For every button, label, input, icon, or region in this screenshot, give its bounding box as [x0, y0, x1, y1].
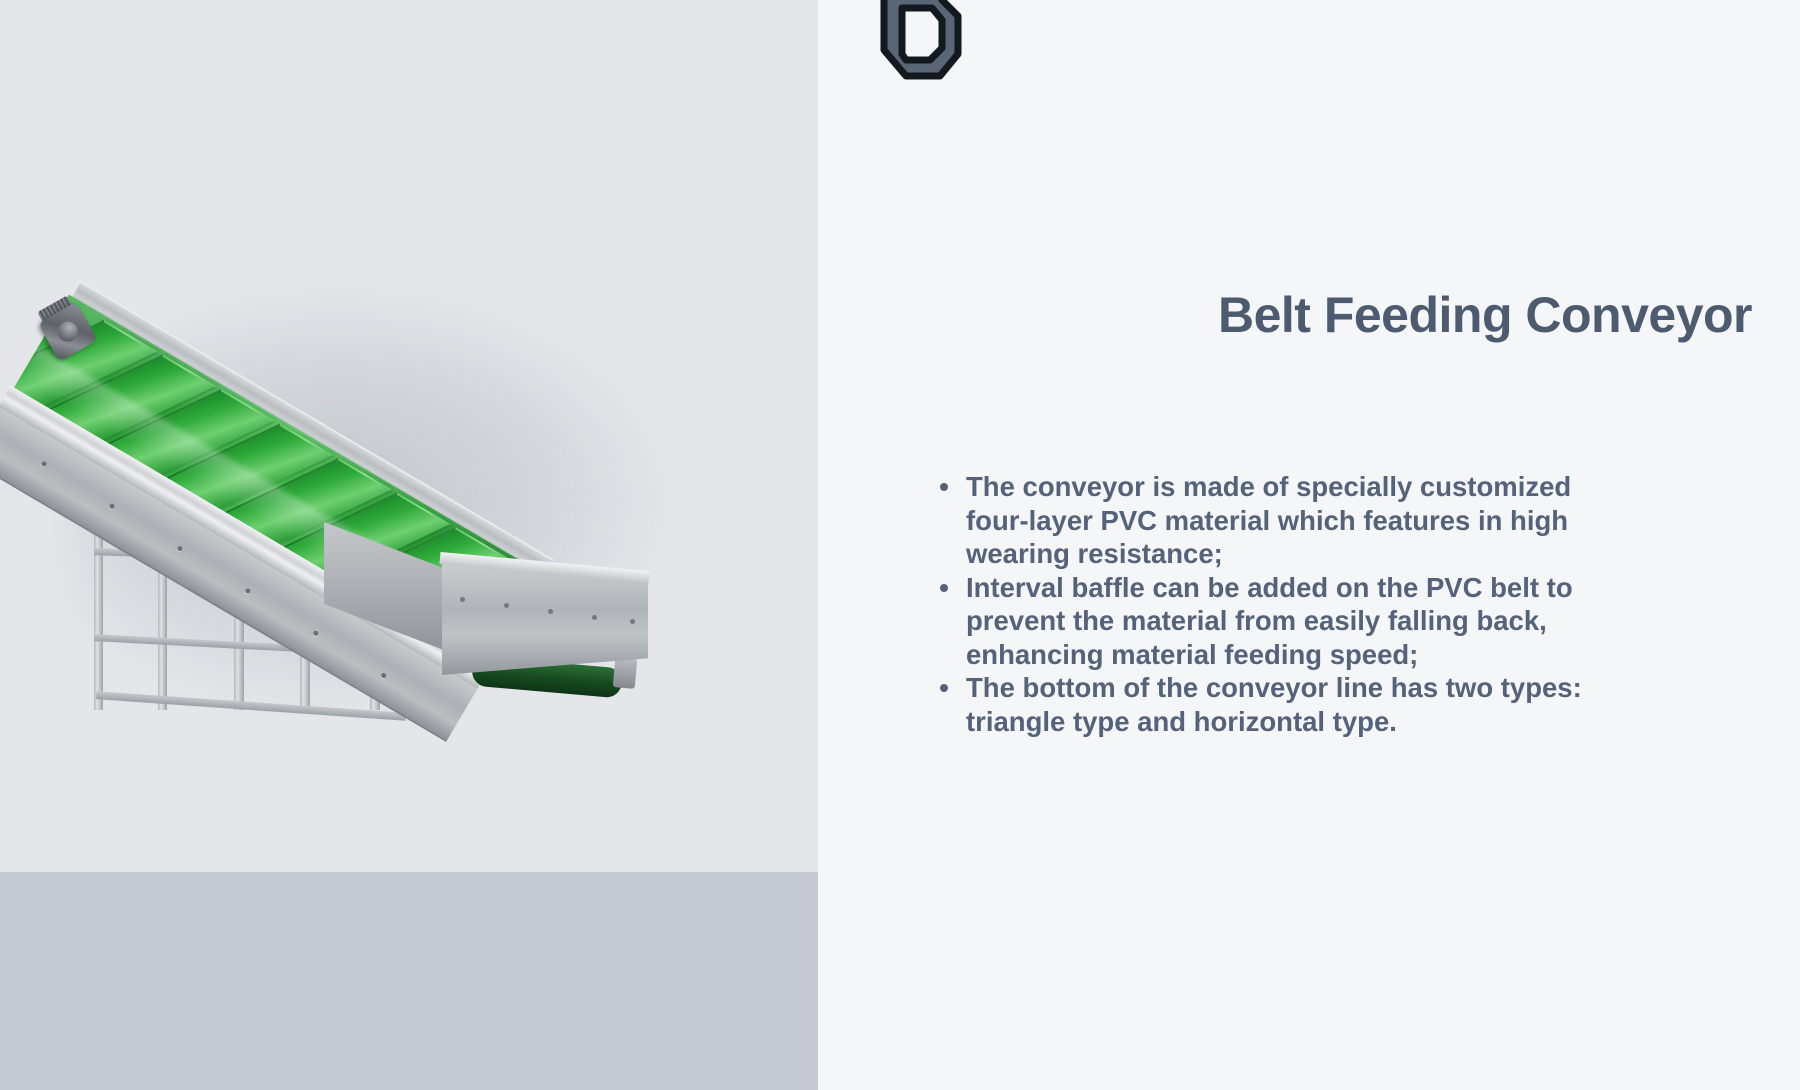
list-item: Interval baffle can be added on the PVC … — [930, 571, 1630, 672]
slide-root: Belt Feeding Conveyor The conveyor is ma… — [0, 0, 1800, 1090]
rivet — [504, 603, 509, 608]
bullet-text: The bottom of the conveyor line has two … — [966, 672, 1582, 737]
bullet-dot-icon — [940, 684, 948, 692]
feed-hopper — [324, 512, 654, 702]
rivet — [244, 587, 251, 594]
bullet-text: Interval baffle can be added on the PVC … — [966, 572, 1573, 670]
product-image-panel — [0, 0, 818, 1090]
page-title: Belt Feeding Conveyor — [818, 288, 1752, 343]
product-photo — [0, 0, 818, 872]
rivet — [312, 630, 319, 637]
roller-end-cap — [613, 657, 638, 689]
angular-b-logo-icon — [866, 0, 962, 92]
list-item: The conveyor is made of specially custom… — [930, 470, 1630, 571]
rivet — [176, 545, 183, 552]
rivet — [41, 460, 48, 467]
rivet — [592, 615, 597, 620]
rivet — [460, 597, 465, 602]
belt-conveyor-illustration — [52, 250, 652, 720]
bullet-text: The conveyor is made of specially custom… — [966, 471, 1571, 569]
rivet — [630, 619, 635, 624]
left-panel-bottom-band — [0, 872, 818, 1090]
rivet — [109, 503, 116, 510]
content-panel: Belt Feeding Conveyor The conveyor is ma… — [818, 0, 1800, 1090]
bullet-dot-icon — [940, 483, 948, 491]
bullet-dot-icon — [940, 584, 948, 592]
rivet — [548, 609, 553, 614]
feature-bullet-list: The conveyor is made of specially custom… — [930, 470, 1630, 738]
hopper-side-wall — [324, 522, 454, 654]
list-item: The bottom of the conveyor line has two … — [930, 671, 1630, 738]
